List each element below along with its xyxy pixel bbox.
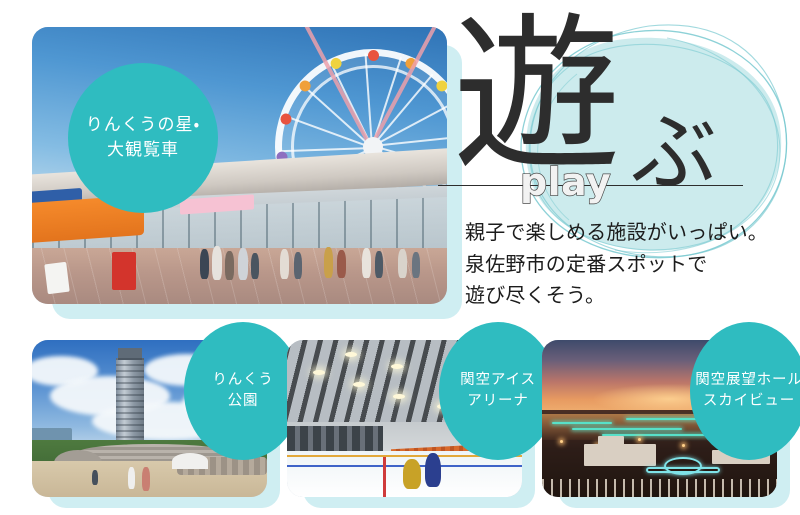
page-title-kana: ぶ <box>631 110 717 196</box>
red-sign-board <box>112 252 136 290</box>
page-root: りんくうの星・ 大観覧車 <box>0 0 800 515</box>
thumb1-badge[interactable]: りんくう 公園 <box>184 322 302 460</box>
mascot-character-yellow <box>403 459 421 489</box>
page-title-kanji: 遊 <box>453 12 621 180</box>
white-sign-board <box>44 262 69 294</box>
description-line-3: 遊び尽くそう。 <box>465 281 795 313</box>
description-text: 親子で楽しめる施設がいっぱい。 泉佐野市の定番スポットで 遊び尽くそう。 <box>465 218 795 313</box>
hero-badge-line2: 大観覧車 <box>107 138 179 163</box>
thumb1-badge-line2: 公園 <box>228 391 259 412</box>
beach-tent <box>172 453 208 469</box>
description-line-1: 親子で楽しめる施設がいっぱい。 <box>465 218 795 250</box>
heading-area: 遊 ぶ play 親子で楽しめる施設がいっぱい。 泉佐野市の定番スポットで 遊び… <box>435 0 800 515</box>
thumbnail-card-rinku-park[interactable]: りんくう 公園 <box>32 340 290 508</box>
hero-badge-line1: りんくうの星・ <box>86 113 201 138</box>
page-title-romaji: play <box>520 160 611 204</box>
description-line-2: 泉佐野市の定番スポットで <box>465 250 795 282</box>
thumb1-badge-line1: りんくう <box>212 370 273 391</box>
hero-badge[interactable]: りんくうの星・ 大観覧車 <box>68 63 218 213</box>
hero-card[interactable]: りんくうの星・ 大観覧車 <box>32 27 462 319</box>
